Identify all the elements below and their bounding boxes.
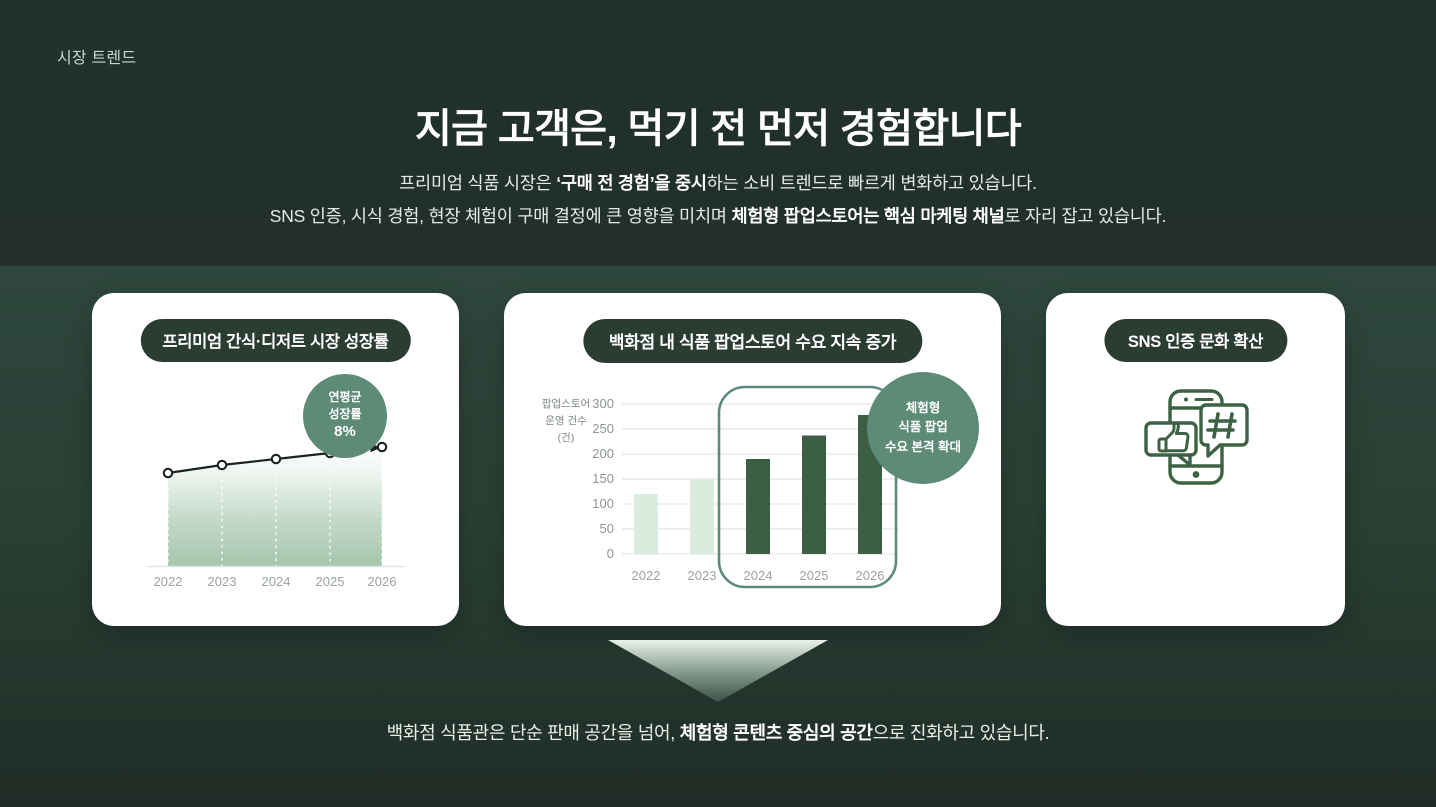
y-tick-labels: 300 250 200 150 100 50 0 — [592, 396, 614, 561]
cagr-badge-value: 8% — [334, 422, 356, 443]
subtitle-2-part-a: SNS 인증, 시식 경험, 현장 체험이 구매 결정에 큰 영향을 미치며 — [270, 206, 732, 226]
card-3-pill-label: SNS 인증 문화 확산 — [1104, 319, 1287, 362]
popup-badge-line-2: 식품 팝업 — [898, 418, 947, 437]
x-tick-label: 2026 — [856, 568, 885, 583]
x-tick-label: 2022 — [154, 574, 183, 589]
cagr-badge-line-1: 연평균 — [328, 389, 361, 406]
x-tick-label: 2024 — [744, 568, 773, 583]
bar-2025 — [802, 436, 826, 555]
down-arrow-icon — [608, 640, 828, 702]
slide-root: 시장 트렌드 지금 고객은, 먹기 전 먼저 경험합니다 프리미엄 식품 시장은… — [0, 0, 1436, 807]
phone-home-button — [1192, 471, 1199, 478]
subtitle-1-part-c: 하는 소비 트렌드로 빠르게 변화하고 있습니다. — [707, 173, 1037, 193]
popup-badge-line-3: 수요 본격 확대 — [885, 438, 961, 457]
subtitle-line-1: 프리미엄 식품 시장은 ‘구매 전 경험’을 중시하는 소비 트렌드로 빠르게 … — [0, 170, 1436, 195]
subtitle-2-part-c: 로 자리 잡고 있습니다. — [1005, 206, 1167, 226]
y-axis-title-line: 운영 건수 — [545, 415, 587, 427]
card-market-growth[interactable]: 프리미엄 간식·디저트 시장 성장률 — [92, 293, 459, 626]
subtitle-1-emphasis: ‘구매 전 경험’을 중시 — [556, 173, 707, 193]
y-tick-label: 250 — [592, 421, 614, 436]
footer-summary: 백화점 식품관은 단순 판매 공간을 넘어, 체험형 콘텐츠 중심의 공간으로 … — [0, 719, 1436, 745]
card-sns-culture[interactable]: SNS 인증 문화 확산 — [1046, 293, 1345, 626]
y-axis-title-line: (건) — [558, 432, 575, 444]
footer-emphasis: 체험형 콘텐츠 중심의 공간 — [680, 723, 873, 743]
subtitle-1-part-a: 프리미엄 식품 시장은 — [399, 173, 556, 193]
footer-part-a: 백화점 식품관은 단순 판매 공간을 넘어, — [387, 723, 680, 743]
y-tick-label: 100 — [592, 496, 614, 511]
cagr-badge: 연평균 성장률 8% — [303, 374, 387, 458]
line-chart-growth: 2022 2023 2024 2025 2026 — [92, 293, 459, 626]
x-tick-label: 2024 — [262, 574, 291, 589]
sns-icon-wrapper — [1046, 381, 1345, 493]
bars — [634, 415, 882, 554]
y-tick-label: 0 — [607, 546, 614, 561]
bar-2023 — [690, 479, 714, 554]
y-tick-label: 150 — [592, 471, 614, 486]
popup-badge-line-1: 체험형 — [906, 399, 941, 418]
subtitle-line-2: SNS 인증, 시식 경험, 현장 체험이 구매 결정에 큰 영향을 미치며 체… — [0, 203, 1436, 228]
bar-2022 — [634, 494, 658, 554]
area-fill — [168, 447, 382, 566]
x-tick-label: 2026 — [368, 574, 397, 589]
y-tick-label: 50 — [600, 521, 614, 536]
x-tick-label: 2025 — [316, 574, 345, 589]
x-tick-label: 2025 — [800, 568, 829, 583]
sns-engagement-icon — [1140, 381, 1252, 493]
y-tick-label: 200 — [592, 446, 614, 461]
cagr-badge-line-2: 성장률 — [328, 406, 361, 423]
x-tick-labels: 2022 2023 2024 2025 2026 — [154, 574, 397, 589]
y-tick-label: 300 — [592, 396, 614, 411]
subtitle-2-emphasis: 체험형 팝업스토어는 핵심 마케팅 채널 — [731, 206, 1004, 226]
page-title: 지금 고객은, 먹기 전 먼저 경험합니다 — [0, 96, 1436, 154]
popup-expansion-badge: 체험형 식품 팝업 수요 본격 확대 — [867, 372, 979, 484]
x-tick-labels: 2022 2023 2024 2025 2026 — [632, 568, 885, 583]
bar-2024 — [746, 459, 770, 554]
x-tick-label: 2023 — [208, 574, 237, 589]
y-axis-title: 팝업스토어 운영 건수 (건) — [542, 397, 590, 444]
footer-part-c: 으로 진화하고 있습니다. — [873, 723, 1050, 743]
eyebrow-label: 시장 트렌드 — [57, 44, 136, 68]
y-axis-title-line: 팝업스토어 — [542, 397, 590, 410]
x-tick-label: 2023 — [688, 568, 717, 583]
x-tick-label: 2022 — [632, 568, 661, 583]
